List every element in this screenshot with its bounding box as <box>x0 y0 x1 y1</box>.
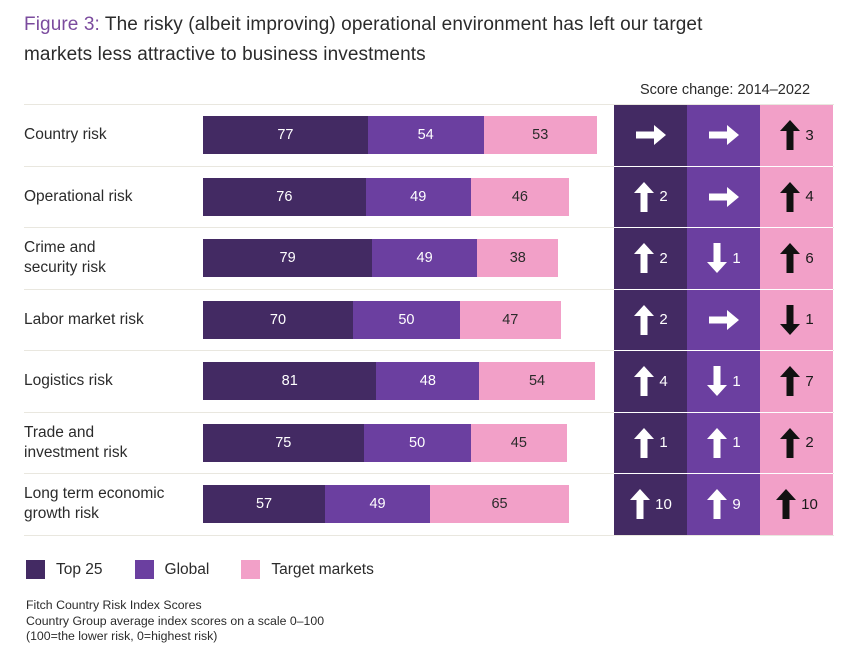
score-change-cells: 112 <box>614 413 833 474</box>
bar-value-label: 75 <box>275 435 291 451</box>
row-label: Long term economicgrowth risk <box>24 484 196 524</box>
bar-segment-target-markets: 46 <box>471 178 570 216</box>
score-change-cell-target-markets: 4 <box>760 167 833 228</box>
stacked-bar: 705047 <box>203 301 561 339</box>
score-change-cell-top-25 <box>614 105 687 166</box>
stacked-bar: 764946 <box>203 178 569 216</box>
arrow-right-icon <box>707 307 741 333</box>
score-change-value: 2 <box>805 435 813 450</box>
arrow-up-icon <box>633 426 655 460</box>
score-change-value: 6 <box>805 251 813 266</box>
bar-value-label: 79 <box>280 250 296 266</box>
score-change-value: 1 <box>732 251 740 266</box>
bar-value-label: 50 <box>398 312 414 328</box>
score-change-header: Score change: 2014–2022 <box>615 82 835 98</box>
score-change-cell-global <box>687 167 760 228</box>
bar-segment-target-markets: 65 <box>430 485 569 523</box>
bar-value-label: 48 <box>420 373 436 389</box>
bar-value-label: 76 <box>276 189 292 205</box>
stacked-bar: 574965 <box>203 485 569 523</box>
chart-row: Labor market risk70504721 <box>24 290 834 352</box>
row-label-line-1: Long term economic <box>24 485 164 502</box>
arrow-up-icon <box>633 303 655 337</box>
stacked-bar: 775453 <box>203 116 597 154</box>
bar-segment-global: 54 <box>368 116 484 154</box>
footnote-line-2: Country Group average index scores on a … <box>26 614 324 630</box>
score-change-cell-target-markets: 2 <box>760 413 833 474</box>
bar-value-label: 49 <box>369 496 385 512</box>
row-label-line-2: security risk <box>24 259 106 276</box>
bar-value-label: 45 <box>511 435 527 451</box>
score-change-cells: 216 <box>614 228 833 289</box>
bar-segment-global: 48 <box>376 362 479 400</box>
bar-value-label: 70 <box>270 312 286 328</box>
bar-segment-top-25: 81 <box>203 362 376 400</box>
legend-label: Target markets <box>271 561 374 579</box>
bar-segment-global: 50 <box>353 301 460 339</box>
row-label-line-2: growth risk <box>24 505 99 522</box>
bar-value-label: 54 <box>529 373 545 389</box>
arrow-up-icon <box>779 118 801 152</box>
arrow-up-icon <box>779 180 801 214</box>
bar-segment-target-markets: 53 <box>484 116 597 154</box>
figure-title-text: The risky (albeit improving) operational… <box>24 14 702 65</box>
stacked-bar: 755045 <box>203 424 567 462</box>
legend-item-top-25: Top 25 <box>26 560 103 579</box>
arrow-up-icon <box>633 180 655 214</box>
bar-segment-target-markets: 45 <box>471 424 567 462</box>
score-change-value: 1 <box>732 374 740 389</box>
row-label-line-1: Crime and <box>24 239 96 256</box>
footnote-line-3: (100=the lower risk, 0=highest risk) <box>26 629 324 645</box>
score-change-cells: 24 <box>614 167 833 228</box>
legend-label: Top 25 <box>56 561 103 579</box>
bar-value-label: 46 <box>512 189 528 205</box>
chart-footnote: Fitch Country Risk Index Scores Country … <box>26 598 324 645</box>
score-change-value: 10 <box>801 497 818 512</box>
score-change-cell-global: 9 <box>687 474 760 535</box>
bar-value-label: 53 <box>532 127 548 143</box>
bar-segment-target-markets: 38 <box>477 239 558 277</box>
score-change-cell-top-25: 2 <box>614 290 687 351</box>
arrow-up-icon <box>779 364 801 398</box>
bar-value-label: 81 <box>282 373 298 389</box>
score-change-cell-global: 1 <box>687 228 760 289</box>
score-change-cell-top-25: 4 <box>614 351 687 412</box>
arrow-up-icon <box>779 241 801 275</box>
bar-segment-top-25: 76 <box>203 178 366 216</box>
score-change-value: 4 <box>659 374 667 389</box>
score-change-value: 1 <box>732 435 740 450</box>
arrow-up-icon <box>706 487 728 521</box>
figure-number-label: Figure 3: <box>24 14 100 35</box>
chart-row: Country risk7754533 <box>24 105 834 167</box>
stacked-bar: 794938 <box>203 239 558 277</box>
arrow-right-icon <box>634 122 668 148</box>
arrow-up-icon <box>706 426 728 460</box>
score-change-cells: 417 <box>614 351 833 412</box>
chart-body: Country risk7754533Operational risk76494… <box>24 104 834 536</box>
row-label: Trade andinvestment risk <box>24 423 196 463</box>
bar-segment-global: 49 <box>325 485 430 523</box>
row-label: Operational risk <box>24 187 196 207</box>
score-change-cell-global <box>687 105 760 166</box>
score-change-cells: 3 <box>614 105 833 166</box>
arrow-up-icon <box>633 364 655 398</box>
score-change-cell-global: 1 <box>687 351 760 412</box>
row-label: Country risk <box>24 125 196 145</box>
score-change-value: 10 <box>655 497 672 512</box>
legend-item-target-markets: Target markets <box>241 560 374 579</box>
score-change-value: 2 <box>659 189 667 204</box>
score-change-value: 9 <box>732 497 740 512</box>
score-change-cell-global <box>687 290 760 351</box>
chart-row: Operational risk76494624 <box>24 167 834 229</box>
score-change-cell-global: 1 <box>687 413 760 474</box>
bar-value-label: 57 <box>256 496 272 512</box>
bar-segment-top-25: 57 <box>203 485 325 523</box>
bar-value-label: 49 <box>410 189 426 205</box>
bar-value-label: 49 <box>417 250 433 266</box>
score-change-value: 3 <box>805 128 813 143</box>
score-change-value: 2 <box>659 251 667 266</box>
row-label-line-2: investment risk <box>24 444 127 461</box>
arrow-up-icon <box>779 426 801 460</box>
arrow-right-icon <box>707 184 741 210</box>
score-change-cells: 21 <box>614 290 833 351</box>
score-change-value: 4 <box>805 189 813 204</box>
score-change-cell-top-25: 10 <box>614 474 687 535</box>
row-label-line-1: Logistics risk <box>24 372 113 389</box>
bar-segment-global: 49 <box>366 178 471 216</box>
chart-row: Long term economicgrowth risk57496510910 <box>24 474 834 536</box>
row-label-line-1: Labor market risk <box>24 311 144 328</box>
legend-swatch-target <box>241 560 260 579</box>
legend-label: Global <box>165 561 210 579</box>
bar-value-label: 38 <box>510 250 526 266</box>
bar-segment-top-25: 75 <box>203 424 364 462</box>
row-label-line-1: Operational risk <box>24 188 133 205</box>
arrow-down-icon <box>779 303 801 337</box>
page-title: Figure 3: The risky (albeit improving) o… <box>24 10 724 70</box>
bar-value-label: 47 <box>502 312 518 328</box>
row-label-line-1: Country risk <box>24 126 107 143</box>
bar-segment-global: 50 <box>364 424 471 462</box>
legend-swatch-global <box>135 560 154 579</box>
score-change-value: 2 <box>659 312 667 327</box>
score-change-value: 1 <box>805 312 813 327</box>
row-label: Crime andsecurity risk <box>24 238 196 278</box>
bar-segment-top-25: 77 <box>203 116 368 154</box>
score-change-cell-target-markets: 3 <box>760 105 833 166</box>
score-change-cell-top-25: 2 <box>614 167 687 228</box>
row-label: Labor market risk <box>24 310 196 330</box>
arrow-up-icon <box>633 241 655 275</box>
bar-segment-top-25: 79 <box>203 239 372 277</box>
bar-segment-global: 49 <box>372 239 477 277</box>
arrow-down-icon <box>706 364 728 398</box>
bar-value-label: 50 <box>409 435 425 451</box>
arrow-right-icon <box>707 122 741 148</box>
arrow-up-icon <box>775 487 797 521</box>
arrow-up-icon <box>629 487 651 521</box>
bar-segment-top-25: 70 <box>203 301 353 339</box>
score-change-value: 1 <box>659 435 667 450</box>
arrow-down-icon <box>706 241 728 275</box>
score-change-cell-target-markets: 10 <box>760 474 833 535</box>
footnote-line-1: Fitch Country Risk Index Scores <box>26 598 324 614</box>
score-change-cell-top-25: 2 <box>614 228 687 289</box>
chart-legend: Top 25GlobalTarget markets <box>26 560 406 579</box>
bar-value-label: 54 <box>418 127 434 143</box>
score-change-cell-top-25: 1 <box>614 413 687 474</box>
score-change-cell-target-markets: 6 <box>760 228 833 289</box>
chart-row: Crime andsecurity risk794938216 <box>24 228 834 290</box>
chart-row: Trade andinvestment risk755045112 <box>24 413 834 475</box>
score-change-value: 7 <box>805 374 813 389</box>
legend-item-global: Global <box>135 560 210 579</box>
bar-segment-target-markets: 54 <box>479 362 595 400</box>
legend-swatch-top25 <box>26 560 45 579</box>
score-change-cell-target-markets: 1 <box>760 290 833 351</box>
stacked-bar: 814854 <box>203 362 595 400</box>
row-label: Logistics risk <box>24 371 196 391</box>
bar-value-label: 65 <box>491 496 507 512</box>
bar-value-label: 77 <box>277 127 293 143</box>
chart-row: Logistics risk814854417 <box>24 351 834 413</box>
row-label-line-1: Trade and <box>24 424 94 441</box>
score-change-cell-target-markets: 7 <box>760 351 833 412</box>
score-change-cells: 10910 <box>614 474 833 535</box>
bar-segment-target-markets: 47 <box>460 301 561 339</box>
